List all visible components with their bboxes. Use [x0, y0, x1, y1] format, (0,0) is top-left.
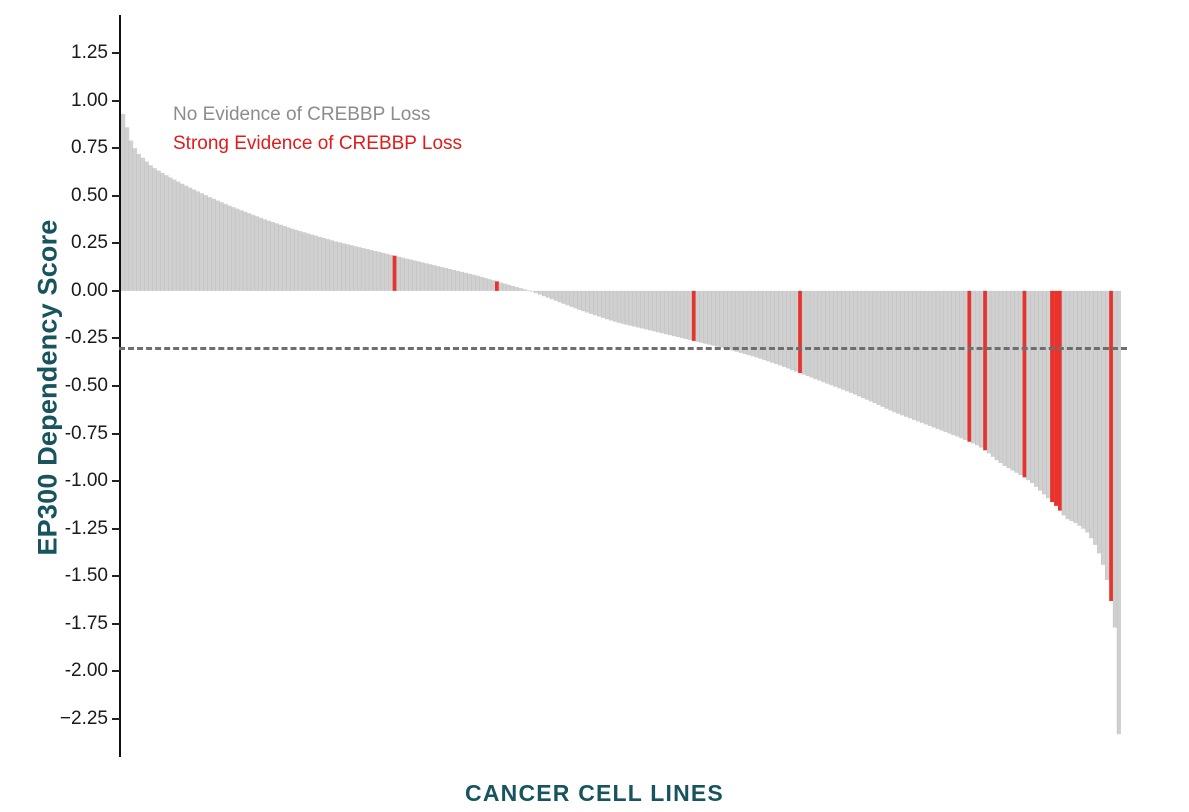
- y-tick-mark: [112, 290, 120, 292]
- y-tick-label: 0.75: [71, 137, 108, 159]
- x-axis-title: CANCER CELL LINES: [0, 780, 1189, 807]
- y-tick-label: -1.00: [65, 470, 108, 492]
- y-tick-mark: [112, 575, 120, 577]
- y-tick-mark: [112, 52, 120, 54]
- y-tick-mark: [112, 242, 120, 244]
- y-tick-label: 1.25: [71, 42, 108, 64]
- y-tick-mark: [112, 718, 120, 720]
- y-tick-label: -1.75: [65, 613, 108, 635]
- y-tick-label: 0.00: [71, 280, 108, 302]
- y-tick-label: 0.25: [71, 232, 108, 254]
- y-tick-mark: [112, 433, 120, 435]
- y-tick-label: -0.75: [65, 423, 108, 445]
- legend-item-no-evidence: No Evidence of CREBBP Loss: [173, 100, 462, 129]
- y-tick-label: 0.50: [71, 185, 108, 207]
- y-tick-mark: [112, 670, 120, 672]
- y-tick-mark: [112, 337, 120, 339]
- y-tick-label: -1.50: [65, 565, 108, 587]
- y-tick-label: -2.00: [65, 660, 108, 682]
- y-axis-title: EP300 Dependency Score: [33, 158, 64, 618]
- y-tick-mark: [112, 480, 120, 482]
- legend-item-strong-evidence: Strong Evidence of CREBBP Loss: [173, 129, 462, 158]
- y-tick-label: -0.25: [65, 327, 108, 349]
- legend: No Evidence of CREBBP Loss Strong Eviden…: [173, 100, 462, 158]
- y-tick-mark: [112, 623, 120, 625]
- y-tick-mark: [112, 195, 120, 197]
- y-tick-mark: [112, 528, 120, 530]
- chart-figure: EP300 Dependency Score CANCER CELL LINES…: [0, 0, 1189, 812]
- y-tick-label: −2.25: [60, 708, 108, 730]
- y-tick-label: 1.00: [71, 90, 108, 112]
- y-tick-mark: [112, 385, 120, 387]
- y-tick-label: -0.50: [65, 375, 108, 397]
- y-tick-mark: [112, 147, 120, 149]
- y-tick-label: -1.25: [65, 518, 108, 540]
- threshold-dashed-line: [119, 347, 1127, 350]
- y-tick-mark: [112, 100, 120, 102]
